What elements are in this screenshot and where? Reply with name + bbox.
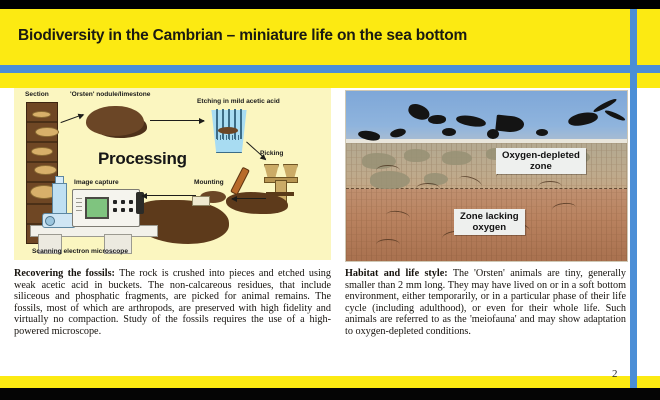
- arrow-nodule-to-etching: [150, 120, 204, 121]
- caption-recovering-the-fossils: Recovering the fossils: The rock is crus…: [14, 268, 331, 338]
- arrow-picking-to-mounting: [232, 198, 266, 199]
- page-title: Biodiversity in the Cambrian – miniature…: [18, 27, 467, 45]
- sem-console: [72, 189, 140, 227]
- sem-knob: [45, 216, 55, 226]
- label-zone-lacking-oxygen-line1: Zone lacking: [460, 211, 519, 222]
- arrow-mounting-to-sem: [142, 195, 196, 196]
- label-oxygen-depleted-zone-line2: zone: [502, 161, 580, 172]
- label-zone-lacking-oxygen-line2: oxygen: [460, 222, 519, 233]
- page-number: 2: [612, 368, 618, 380]
- label-zone-lacking-oxygen: Zone lacking oxygen: [454, 209, 525, 235]
- caption-habitat-and-life-style: Habitat and life style: The 'Orsten' ani…: [345, 268, 626, 338]
- label-section: Section: [25, 91, 49, 98]
- label-nodule: 'Orsten' nodule/limestone: [70, 91, 150, 98]
- processing-diagram-panel: Section 'Orsten' nodule/limestone Etchin…: [14, 88, 331, 260]
- label-image-capture: Image capture: [74, 179, 119, 186]
- orsten-nodule: [86, 106, 144, 136]
- header-banner-lower: [0, 73, 660, 88]
- label-etching: Etching in mild acetic acid: [197, 98, 280, 105]
- critter: [428, 115, 446, 124]
- header-divider-rule: [0, 65, 660, 73]
- console-screen: [85, 197, 109, 219]
- arrow-section-to-nodule: [60, 114, 83, 124]
- label-oxygen-depleted-zone: Oxygen-depleted zone: [496, 148, 586, 174]
- picking-brush: [230, 167, 250, 196]
- console-buttons: [111, 198, 135, 214]
- slide-canvas: Biodiversity in the Cambrian – miniature…: [0, 0, 660, 400]
- etching-beaker: [209, 110, 247, 152]
- caption-right-lead: Habitat and life style:: [345, 268, 448, 279]
- letterbox-bottom: [0, 388, 660, 400]
- label-oxygen-depleted-zone-line1: Oxygen-depleted: [502, 150, 580, 161]
- label-mounting: Mounting: [194, 179, 224, 186]
- letterbox-top: [0, 0, 660, 9]
- mounting-stub: [192, 196, 210, 206]
- critter: [442, 128, 456, 136]
- sea-bottom-panel: Oxygen-depleted zone Zone lacking oxygen: [345, 90, 628, 262]
- splatter-shape-left: [134, 200, 229, 244]
- critter: [536, 129, 548, 136]
- diagram-heading-processing: Processing: [98, 149, 187, 169]
- label-scanning-electron-microscope: Scanning electron microscope: [32, 248, 128, 255]
- vertical-divider-rule: [630, 9, 637, 388]
- label-picking: Picking: [260, 150, 283, 157]
- console-vents: [76, 198, 82, 214]
- footer-band: [0, 376, 660, 388]
- caption-left-lead: Recovering the fossils:: [14, 268, 115, 279]
